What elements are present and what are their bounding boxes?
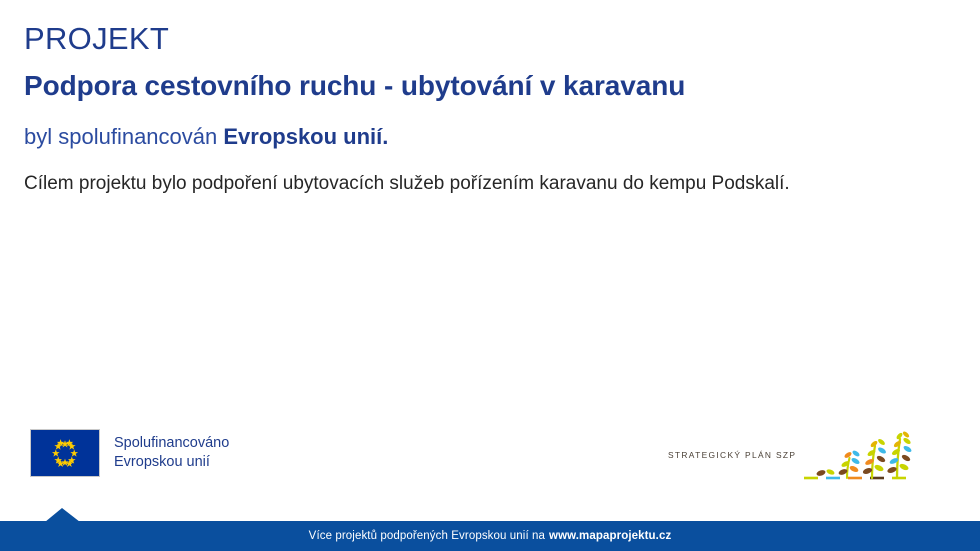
footer-bar: Více projektů podpořených Evropskou unií… — [0, 521, 980, 551]
text-content-block: PROJEKT Podpora cestovního ruchu - ubyto… — [24, 22, 940, 198]
footer-text-plain: Více projektů podpořených Evropskou unií… — [309, 530, 545, 542]
funding-statement-plain: byl spolufinancován — [24, 124, 223, 149]
eu-emblem-block: Spolufinancováno Evropskou unií — [30, 429, 229, 477]
szp-logo-block: STRATEGICKÝ PLÁN SZP — [668, 428, 920, 486]
footer-text: Více projektů podpořených Evropskou unií… — [0, 521, 980, 551]
funding-statement: byl spolufinancován Evropskou unií. — [24, 124, 940, 150]
eu-flag-icon — [30, 429, 100, 477]
project-description: Cílem projektu bylo podpoření ubytovacíc… — [24, 171, 904, 198]
growing-plants-icon — [802, 428, 920, 486]
slide-canvas: PROJEKT Podpora cestovního ruchu - ubyto… — [0, 0, 980, 551]
eu-emblem-caption: Spolufinancováno Evropskou unií — [114, 434, 229, 473]
footer-url-link[interactable]: www.mapaprojektu.cz — [549, 530, 671, 542]
eu-caption-line-1: Spolufinancováno — [114, 434, 229, 453]
funding-statement-emphasis: Evropskou unií. — [223, 124, 388, 149]
footer-notch — [0, 507, 120, 521]
page-kicker: PROJEKT — [24, 22, 940, 57]
eu-caption-line-2: Evropskou unií — [114, 453, 229, 472]
szp-logo-label: STRATEGICKÝ PLÁN SZP — [668, 450, 796, 486]
page-title: Podpora cestovního ruchu - ubytování v k… — [24, 70, 940, 102]
